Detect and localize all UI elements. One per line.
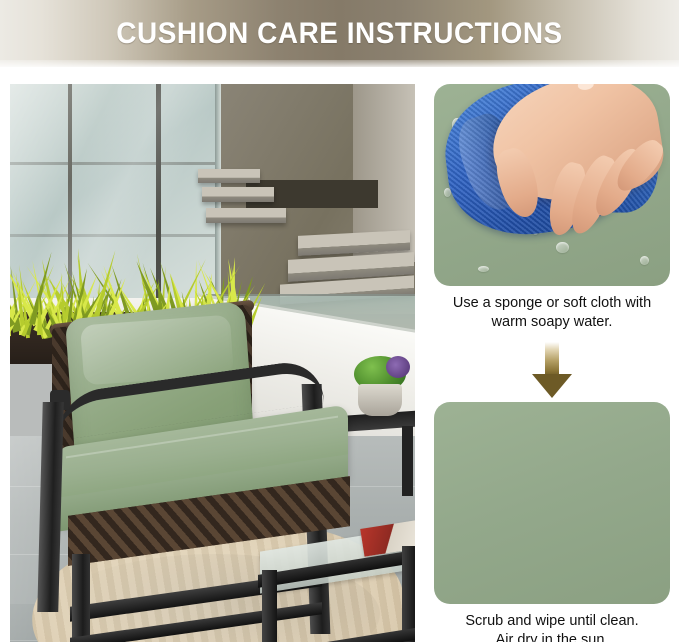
water-droplet — [478, 266, 489, 272]
infographic-page: CUSHION CARE INSTRUCTIONS — [0, 0, 679, 642]
step-1-caption-line-1: Use a sponge or soft cloth with — [434, 294, 670, 313]
stair-tread — [198, 169, 260, 183]
stair-tread — [202, 187, 274, 202]
header-banner: CUSHION CARE INSTRUCTIONS — [0, 0, 679, 67]
hero-photo: EASY TO CLEAN — [10, 84, 415, 642]
step-2-image — [434, 402, 670, 604]
fingernail — [577, 84, 594, 91]
step-1-caption: Use a sponge or soft cloth with warm soa… — [434, 294, 670, 333]
chair-leg — [72, 554, 90, 642]
instruction-steps-column: Use a sponge or soft cloth with warm soa… — [434, 84, 670, 642]
coffee-table-leg — [262, 570, 277, 642]
side-table-leg — [402, 426, 413, 496]
arrow-head — [532, 374, 572, 398]
down-arrow-icon — [532, 342, 572, 398]
step-1-caption-line-2: warm soapy water. — [434, 313, 670, 332]
step-2-caption-line-1: Scrub and wipe until clean. — [434, 612, 670, 631]
grass-blade — [36, 296, 43, 335]
stair-tread — [206, 208, 286, 223]
step-1-image — [434, 84, 670, 286]
arrow-shaft — [545, 342, 559, 376]
water-droplet — [640, 256, 649, 265]
potted-plant-flowers — [386, 356, 410, 378]
step-2-caption: Scrub and wipe until clean. Air dry in t… — [434, 612, 670, 642]
step-2-caption-line-2: Air dry in the sun. — [434, 631, 670, 642]
page-title: CUSHION CARE INSTRUCTIONS — [24, 0, 655, 67]
banner-bottom-fade — [0, 60, 679, 69]
plant-pot — [358, 384, 402, 416]
water-droplet — [556, 242, 569, 253]
